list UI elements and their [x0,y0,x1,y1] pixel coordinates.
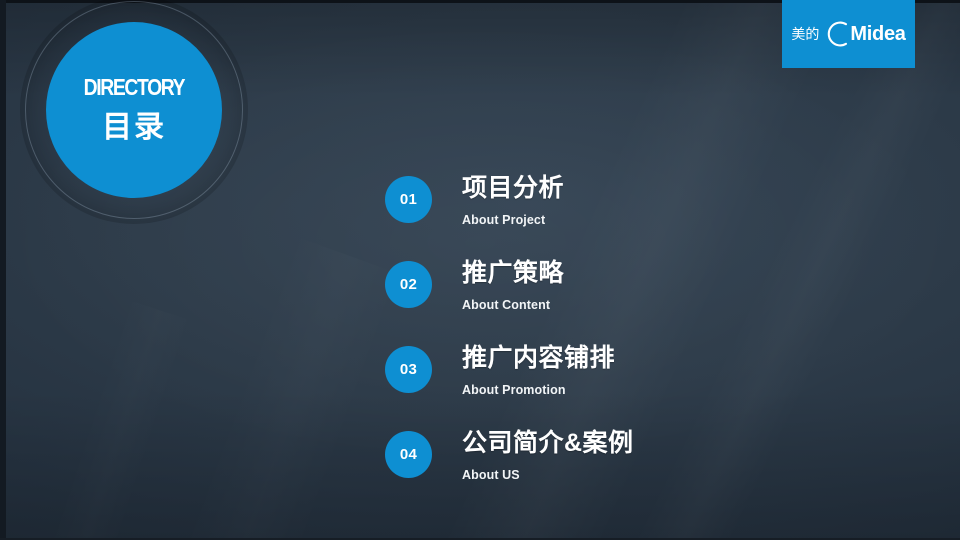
agenda-title-cn: 推广策略 [462,259,564,289]
agenda-title-en: About Project [462,214,564,227]
agenda-item-texts: 推广内容铺排 About Promotion [462,344,615,396]
agenda-title-cn: 项目分析 [462,174,564,204]
slide-edge-left [0,0,6,540]
logo-wordmark: Midea [850,24,905,44]
agenda-number-text: 02 [400,277,417,292]
agenda-item-texts: 项目分析 About Project [462,174,564,226]
agenda-number-badge: 02 [385,261,432,308]
agenda-title-cn: 公司简介&案例 [462,429,634,459]
directory-label-cn: 目录 [102,113,166,143]
agenda-item-01[interactable]: 01 项目分析 About Project [385,176,805,261]
logo-chinese-text: 美的 [791,27,819,41]
directory-circle: DIRECTORY 目录 [46,22,222,198]
presentation-slide: 美的 Midea DIRECTORY 目录 01 项目分析 About Proj… [0,0,960,540]
directory-label-en: DIRECTORY [84,76,185,99]
midea-logo-badge: 美的 Midea [782,0,915,68]
agenda-item-02[interactable]: 02 推广策略 About Content [385,261,805,346]
agenda-number-text: 01 [400,192,417,207]
agenda-title-en: About Promotion [462,384,615,397]
agenda-number-text: 04 [400,447,417,462]
agenda-item-texts: 推广策略 About Content [462,259,564,311]
agenda-number-badge: 03 [385,346,432,393]
agenda-title-cn: 推广内容铺排 [462,344,615,374]
agenda-title-en: About US [462,469,634,482]
agenda-list: 01 项目分析 About Project 02 推广策略 About Cont… [385,176,805,516]
agenda-number-badge: 01 [385,176,432,223]
agenda-item-texts: 公司简介&案例 About US [462,429,634,481]
agenda-number-badge: 04 [385,431,432,478]
agenda-item-03[interactable]: 03 推广内容铺排 About Promotion [385,346,805,431]
agenda-item-04[interactable]: 04 公司简介&案例 About US [385,431,805,516]
agenda-number-text: 03 [400,362,417,377]
agenda-title-en: About Content [462,299,564,312]
